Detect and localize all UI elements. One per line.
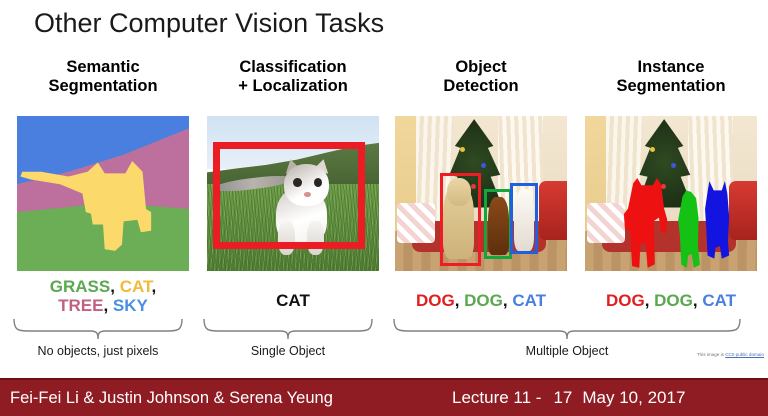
column-heading: Instance Segmentation	[576, 58, 766, 114]
column-heading-line1: Classification	[198, 58, 388, 77]
label-dog-2: DOG	[654, 291, 693, 310]
footer-authors: Fei-Fei Li & Justin Johnson & Serena Yeu…	[10, 389, 333, 408]
column-heading-line2: + Localization	[198, 77, 388, 96]
caption-middle: Single Object	[202, 344, 374, 358]
label-cat: CAT	[276, 291, 310, 310]
column-heading-line2: Segmentation	[576, 77, 766, 96]
ornament-icon	[671, 163, 676, 168]
curly-brace-icon	[12, 318, 184, 340]
footer-lecture-info: Lecture 11 -17May 10, 2017	[452, 388, 685, 408]
room-sofa	[539, 181, 567, 240]
column-heading-line1: Semantic	[8, 58, 198, 77]
column-semantic-segmentation: Semantic Segmentation GRASS, CAT, TREE, …	[8, 58, 198, 315]
page-title: Other Computer Vision Tasks	[34, 8, 384, 39]
credit-link[interactable]: CC0 public domain	[725, 352, 764, 357]
label-list-semantic: GRASS, CAT, TREE, SKY	[8, 277, 198, 315]
footer-slide-number: 17	[553, 388, 572, 407]
column-heading: Classification + Localization	[198, 58, 388, 114]
curly-brace-icon	[392, 318, 742, 340]
label-list-classification: CAT	[198, 291, 388, 310]
label-dog-2: DOG	[464, 291, 503, 310]
label-grass: GRASS	[50, 277, 110, 296]
column-heading-line2: Segmentation	[8, 77, 198, 96]
bounding-box-cat-blue	[510, 183, 538, 254]
footer-lecture-label: Lecture 11 -	[452, 388, 541, 407]
label-dog-1: DOG	[416, 291, 455, 310]
task-columns: Semantic Segmentation GRASS, CAT, TREE, …	[0, 58, 768, 358]
ornament-icon	[481, 163, 486, 168]
label-list-detection: DOG, DOG, CAT	[386, 291, 576, 310]
room-gift	[397, 203, 435, 243]
room-sofa	[729, 181, 757, 240]
brace-middle	[202, 318, 374, 340]
brace-right	[392, 318, 742, 340]
column-heading-line1: Object	[386, 58, 576, 77]
column-heading: Semantic Segmentation	[8, 58, 198, 114]
column-heading-line1: Instance	[576, 58, 766, 77]
footer-date: May 10, 2017	[582, 388, 685, 407]
label-cat: CAT	[512, 291, 546, 310]
label-cat: CAT	[702, 291, 736, 310]
instance-segmentation-thumbnail	[585, 116, 757, 271]
footer-bar: Fei-Fei Li & Justin Johnson & Serena Yeu…	[0, 378, 768, 416]
label-list-instance: DOG, DOG, CAT	[576, 291, 766, 310]
column-heading: Object Detection	[386, 58, 576, 114]
bounding-box-dog-red	[440, 173, 481, 266]
bounding-box-dog-green	[484, 189, 512, 259]
semantic-segmentation-thumbnail	[17, 116, 189, 271]
column-classification-localization: Classification + Localization	[198, 58, 388, 310]
room-gift	[587, 203, 625, 243]
curly-brace-icon	[202, 318, 374, 340]
object-detection-thumbnail	[395, 116, 567, 271]
column-instance-segmentation: Instance Segmentation DOG,	[576, 58, 766, 310]
slide: Other Computer Vision Tasks Semantic Seg…	[0, 0, 768, 416]
label-tree: TREE	[58, 296, 103, 315]
column-heading-line2: Detection	[386, 77, 576, 96]
credit-prefix: This image is	[697, 352, 725, 357]
label-sky: SKY	[113, 296, 148, 315]
brace-left	[12, 318, 184, 340]
caption-left: No objects, just pixels	[12, 344, 184, 358]
label-dog-1: DOG	[606, 291, 645, 310]
bounding-box-cat	[213, 142, 365, 249]
label-cat: CAT	[120, 277, 152, 296]
image-credit: This image is CC0 public domain	[697, 352, 764, 357]
column-object-detection: Object Detection	[386, 58, 576, 310]
classification-localization-thumbnail	[207, 116, 379, 271]
caption-right: Multiple Object	[392, 344, 742, 358]
